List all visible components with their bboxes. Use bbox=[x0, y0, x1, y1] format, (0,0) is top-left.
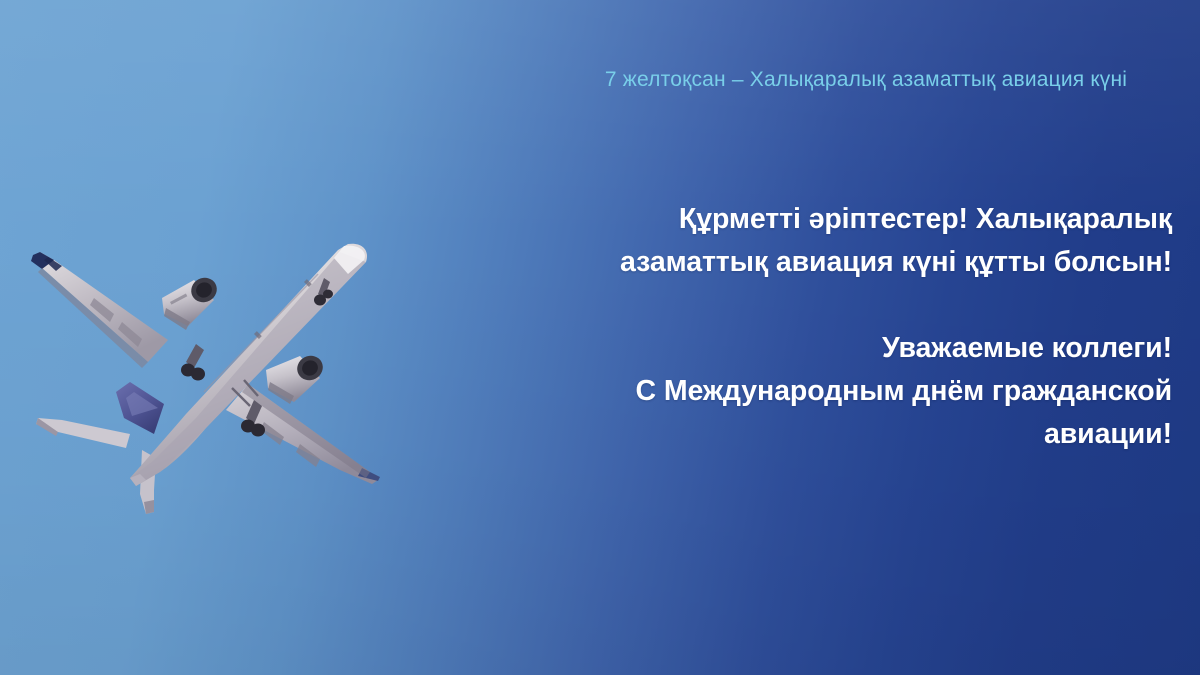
event-date-heading: 7 желтоқсан – Халықаралық азаматтық авиа… bbox=[560, 68, 1172, 92]
kazakh-line-2: азаматтық авиация күні құтты болсын! bbox=[520, 241, 1172, 284]
airplane-svg bbox=[18, 222, 408, 522]
paragraph-spacer bbox=[520, 284, 1172, 327]
russian-line-2: С Международным днём гражданской bbox=[520, 370, 1172, 413]
greeting-message: Құрметті әріптестер! Халықаралық азаматт… bbox=[520, 198, 1172, 456]
left-wing bbox=[31, 252, 168, 368]
russian-line-3: авиации! bbox=[520, 413, 1172, 456]
left-engine bbox=[162, 273, 221, 330]
right-wing bbox=[226, 384, 380, 484]
russian-line-1: Уважаемые коллеги! bbox=[520, 327, 1172, 370]
horizontal-stabilizers bbox=[36, 418, 156, 514]
greeting-slide: 7 желтоқсан – Халықаралық азаматтық авиа… bbox=[0, 0, 1200, 675]
right-engine bbox=[266, 351, 327, 404]
airplane-illustration bbox=[18, 222, 408, 522]
kazakh-line-1: Құрметті әріптестер! Халықаралық bbox=[520, 198, 1172, 241]
vertical-tail-fin bbox=[116, 382, 164, 434]
